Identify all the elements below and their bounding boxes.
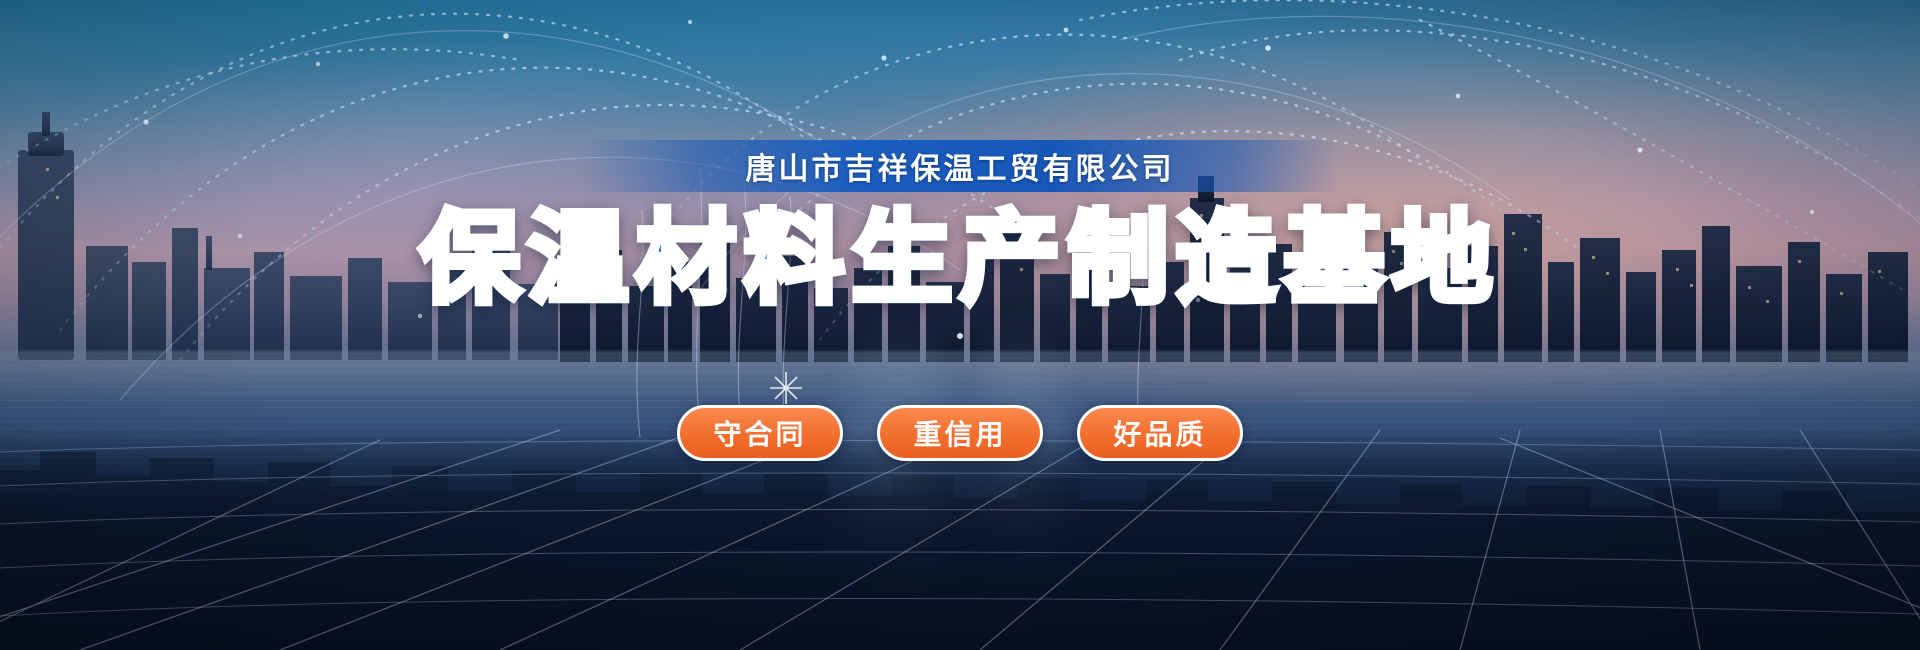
banner-content: 唐山市吉祥保温工贸有限公司 保温材料生产制造基地 守合同 重信用 好品质 [0, 0, 1920, 650]
badge-label: 好品质 [1113, 413, 1206, 453]
badge-shou-he-tong[interactable]: 守合同 [677, 405, 843, 461]
badge-label: 守合同 [713, 413, 806, 453]
badge-hao-pin-zhi[interactable]: 好品质 [1077, 405, 1243, 461]
company-name: 唐山市吉祥保温工贸有限公司 [746, 144, 1175, 188]
banner-headline: 保温材料生产制造基地 [420, 206, 1500, 312]
hero-banner: 唐山市吉祥保温工贸有限公司 保温材料生产制造基地 守合同 重信用 好品质 [0, 0, 1920, 650]
company-name-bar: 唐山市吉祥保温工贸有限公司 [580, 140, 1340, 192]
badge-list: 守合同 重信用 好品质 [677, 405, 1243, 461]
badge-zhong-xin-yong[interactable]: 重信用 [877, 405, 1043, 461]
badge-label: 重信用 [913, 413, 1006, 453]
